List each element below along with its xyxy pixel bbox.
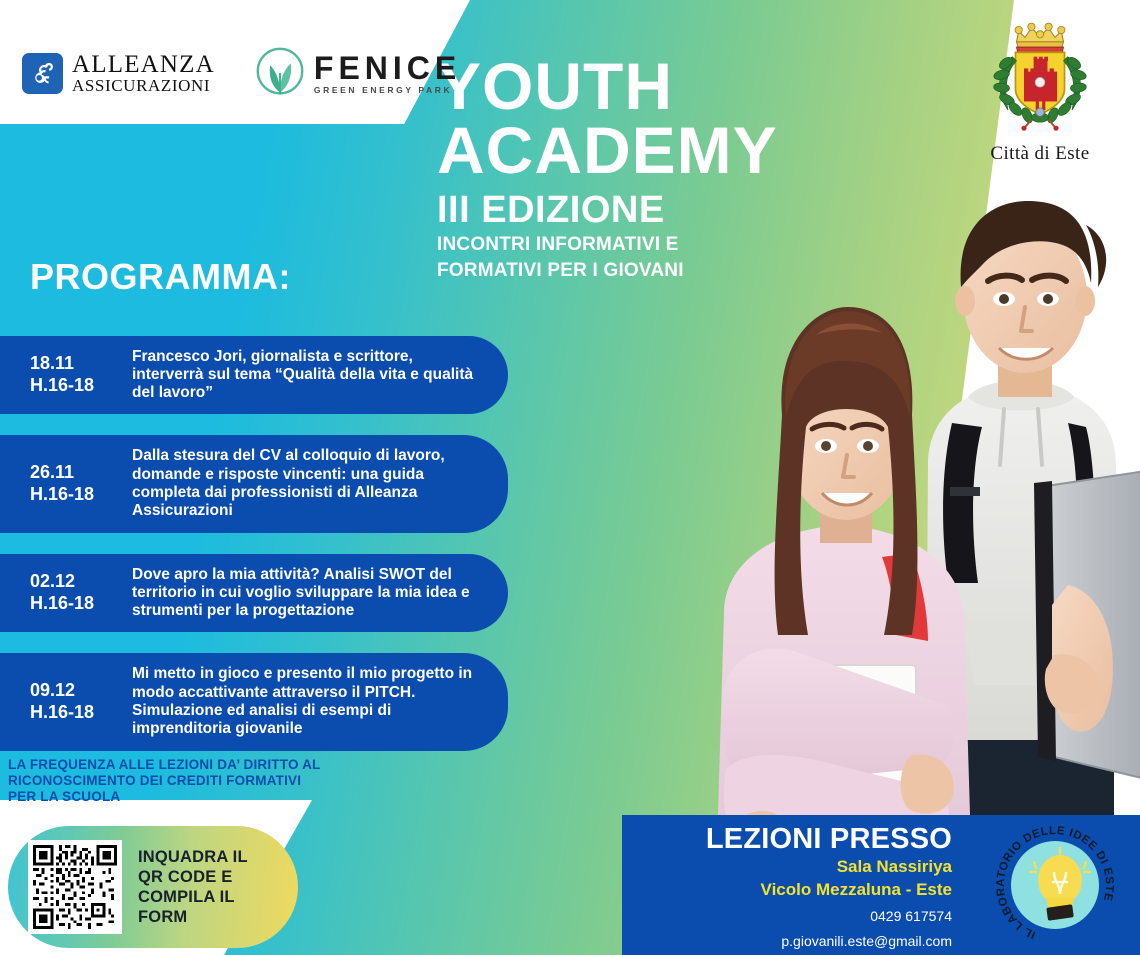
schedule-time-1: H.16-18 (30, 375, 128, 397)
credits-note: LA FREQUENZA ALLE LEZIONI DA’ DIRITTO AL… (8, 757, 321, 805)
credits-note-line-1: LA FREQUENZA ALLE LEZIONI DA’ DIRITTO AL (8, 757, 321, 773)
schedule-row-1[interactable]: 18.11 H.16-18 Francesco Jori, giornalist… (0, 336, 508, 414)
schedule-row-4[interactable]: 09.12 H.16-18 Mi metto in gioco e presen… (0, 653, 508, 751)
venue-info-panel: LEZIONI PRESSO Sala Nassiriya Vicolo Mez… (622, 815, 1140, 955)
alleanza-assicurazioni-logo: ALLEANZA ASSICURAZIONI (22, 52, 215, 94)
alleanza-line-2: ASSICURAZIONI (72, 77, 215, 94)
schedule-date-3: 02.12 (30, 571, 128, 593)
fenice-line-1: FENICE (314, 52, 461, 84)
alleanza-griffin-icon (22, 53, 63, 94)
credits-note-line-2: RICONOSCIMENTO DEI CREDITI FORMATIVI (8, 773, 321, 789)
schedule-date-1: 18.11 (30, 353, 128, 375)
schedule-time-3: H.16-18 (30, 593, 128, 615)
schedule-when-3: 02.12 H.16-18 (30, 571, 128, 615)
schedule-description-1: Francesco Jori, giornalista e scrittore,… (128, 348, 484, 403)
schedule-when-1: 18.11 H.16-18 (30, 353, 128, 397)
contact-email[interactable]: p.giovanili.este@gmail.com (622, 932, 952, 950)
title-line-2: ACADEMY (437, 118, 778, 182)
este-coat-of-arms-icon (976, 14, 1104, 142)
schedule-row-3[interactable]: 02.12 H.16-18 Dove apro la mia attività?… (0, 554, 508, 632)
venue-info-text: LEZIONI PRESSO Sala Nassiriya Vicolo Mez… (622, 825, 952, 955)
qr-instruction-line-1: INQUADRA IL (138, 847, 248, 867)
title-subtitle-line-2: FORMATIVI PER I GIOVANI (437, 260, 778, 281)
credits-note-line-3: PER LA SCUOLA (8, 789, 321, 805)
laboratorio-idee-logo: IL LABORATORIO DELLE IDEE DI ESTE (994, 824, 1116, 946)
qr-instruction-line-4: FORM (138, 907, 248, 927)
schedule-date-2: 26.11 (30, 462, 128, 484)
qr-instruction-line-3: COMPILA IL (138, 887, 248, 907)
contact-phone[interactable]: 0429 617574 (622, 907, 952, 925)
citta-di-este-crest: Città di Este (965, 14, 1115, 165)
poster-title-block: YOUTH ACADEMY III EDIZIONE INCONTRI INFO… (437, 54, 778, 282)
qr-instruction-line-2: QR CODE E (138, 867, 248, 887)
schedule-description-4: Mi metto in gioco e presento il mio prog… (128, 665, 484, 738)
page-title: PROGRAMMA: (30, 256, 291, 298)
fenice-wordmark: FENICE GREEN ENERGY PARK (314, 52, 461, 95)
schedule-when-2: 26.11 H.16-18 (30, 462, 128, 506)
schedule-time-4: H.16-18 (30, 702, 128, 724)
alleanza-wordmark: ALLEANZA ASSICURAZIONI (72, 52, 215, 94)
venue-name: Sala Nassiriya (622, 857, 952, 877)
schedule-when-4: 09.12 H.16-18 (30, 680, 128, 724)
schedule-row-2[interactable]: 26.11 H.16-18 Dalla stesura del CV al co… (0, 435, 508, 533)
crest-caption: Città di Este (965, 143, 1115, 165)
sponsor-logos: ALLEANZA ASSICURAZIONI FENICE GREEN ENER… (22, 44, 461, 102)
venue-address: Vicolo Mezzaluna - Este (622, 880, 952, 900)
fenice-line-2: GREEN ENERGY PARK (314, 86, 461, 95)
title-line-1: YOUTH (437, 54, 778, 118)
qr-code-instructions: INQUADRA IL QR CODE E COMPILA IL FORM (138, 847, 248, 928)
alleanza-line-1: ALLEANZA (72, 52, 215, 77)
schedule-description-2: Dalla stesura del CV al colloquio di lav… (128, 447, 484, 520)
qr-code-callout[interactable]: INQUADRA IL QR CODE E COMPILA IL FORM (8, 826, 298, 948)
schedule-time-2: H.16-18 (30, 484, 128, 506)
title-subtitle-line-1: INCONTRI INFORMATIVI E (437, 234, 778, 255)
schedule-date-4: 09.12 (30, 680, 128, 702)
qr-code-image[interactable] (28, 840, 122, 934)
fenice-green-energy-park-logo: FENICE GREEN ENERGY PARK (251, 44, 461, 102)
fenice-leaf-icon (251, 44, 309, 102)
schedule-description-3: Dove apro la mia attività? Analisi SWOT … (128, 566, 484, 621)
schedule-list: 18.11 H.16-18 Francesco Jori, giornalist… (0, 336, 508, 772)
title-edition: III EDIZIONE (437, 191, 778, 229)
poster-canvas: ALLEANZA ASSICURAZIONI FENICE GREEN ENER… (0, 0, 1140, 955)
venue-heading: LEZIONI PRESSO (622, 825, 952, 854)
